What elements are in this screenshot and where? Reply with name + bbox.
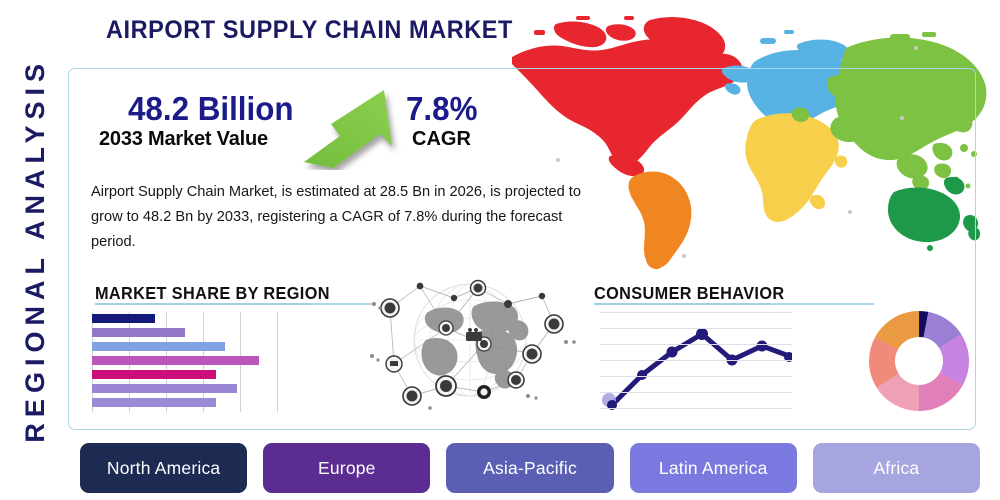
consumer-donut-chart <box>866 308 972 414</box>
cagr-label: CAGR <box>412 128 471 151</box>
bar-segment <box>92 356 259 365</box>
side-label-text: REGIONAL ANALYSIS <box>20 58 51 443</box>
region-button-europe[interactable]: Europe <box>263 443 430 493</box>
global-network-globe-icon <box>366 268 584 420</box>
bar-segment <box>92 384 237 393</box>
consumer-behavior-line-chart <box>600 312 792 412</box>
section-rule-consumer-behavior <box>594 303 770 305</box>
market-value-label: 2033 Market Value <box>99 128 268 151</box>
region-button-label: Africa <box>873 458 919 479</box>
regional-analysis-side-label: REGIONAL ANALYSIS <box>4 0 66 500</box>
region-button-label: Latin America <box>659 458 768 479</box>
market-value-number: 48.2 Billion <box>128 90 294 128</box>
bar-segment <box>92 328 185 337</box>
line-series <box>600 312 792 412</box>
bar-segment <box>92 370 216 379</box>
region-button-asia-pacific[interactable]: Asia-Pacific <box>446 443 613 493</box>
kpi-row: 48.2 Billion 2033 Market Value 7.8% CAGR <box>90 90 510 168</box>
page-title: AIRPORT SUPPLY CHAIN MARKET <box>106 16 513 45</box>
section-rule-market-share <box>95 303 311 305</box>
region-button-label: Asia-Pacific <box>483 458 577 479</box>
region-button-north-america[interactable]: North America <box>80 443 247 493</box>
region-button-label: Europe <box>318 458 376 479</box>
region-button-latin-america[interactable]: Latin America <box>630 443 797 493</box>
growth-arrow-icon <box>300 84 410 170</box>
region-button-label: North America <box>107 458 220 479</box>
market-share-bar-chart <box>92 312 282 412</box>
section-heading-consumer-behavior: CONSUMER BEHAVIOR <box>594 283 784 304</box>
section-rule-consumer-behavior-ext <box>770 303 874 305</box>
infographic-root: REGIONAL ANALYSIS AIRPORT SUPPLY CHAIN M… <box>0 0 1000 500</box>
cagr-number: 7.8% <box>406 90 477 128</box>
bar-segment <box>92 342 225 351</box>
bar-segment <box>92 398 216 407</box>
market-description: Airport Supply Chain Market, is estimate… <box>91 180 603 255</box>
region-button-africa[interactable]: Africa <box>813 443 980 493</box>
region-button-row: North America Europe Asia-Pacific Latin … <box>80 443 980 493</box>
section-heading-market-share: MARKET SHARE BY REGION <box>95 283 330 304</box>
bar-segment <box>92 314 155 323</box>
